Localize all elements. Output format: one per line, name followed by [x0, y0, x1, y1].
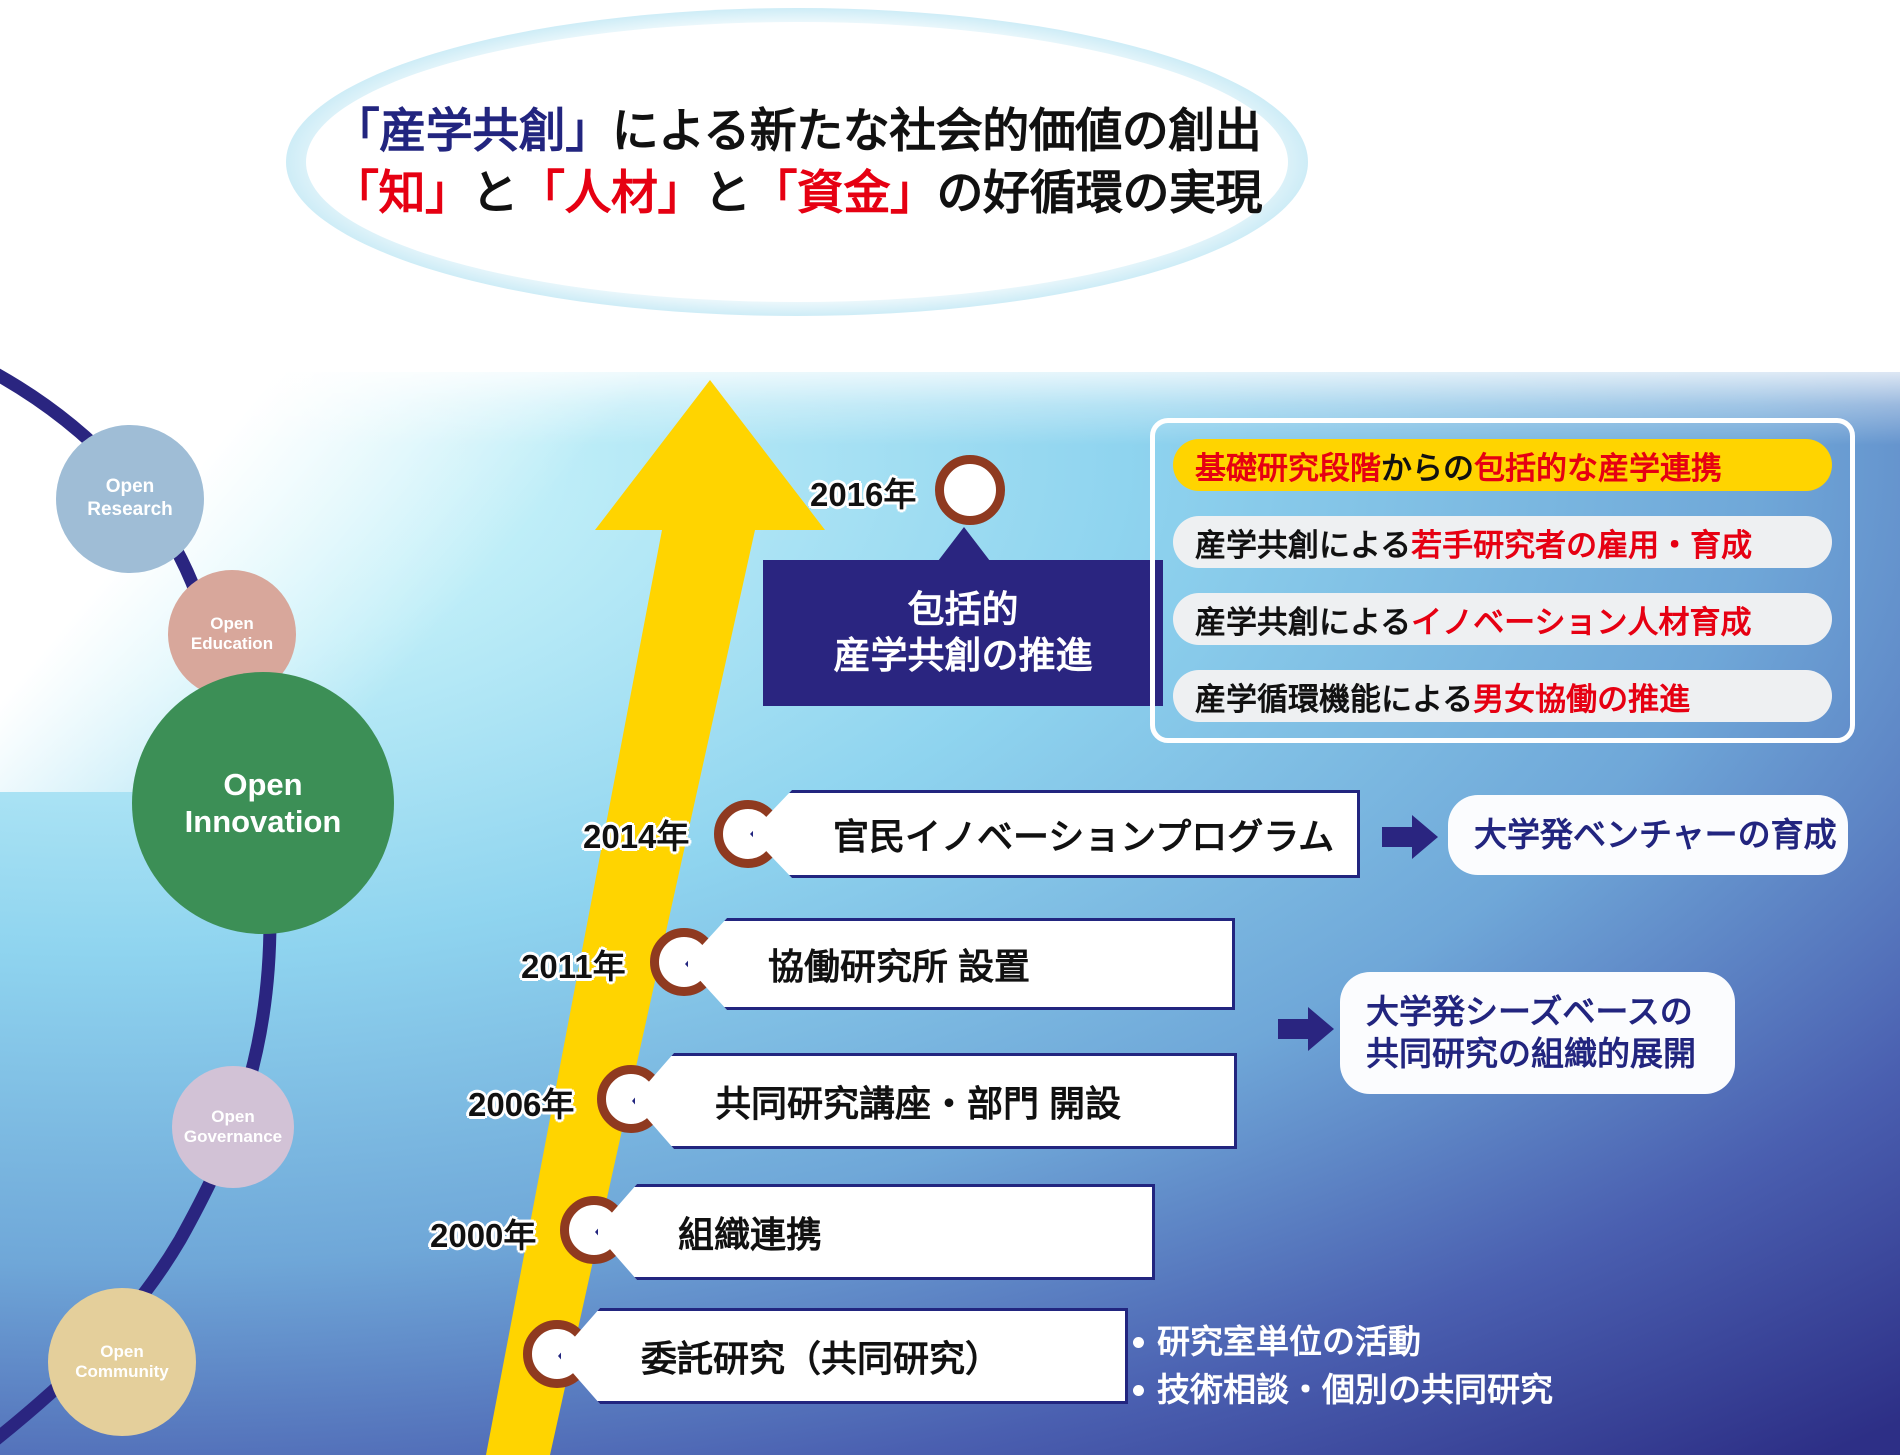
seeds-callout[interactable]: 大学発シーズベースの 共同研究の組織的展開 — [1340, 972, 1735, 1094]
circle-open-education-label: OpenEducation — [191, 614, 273, 655]
initiatives-panel: 基礎研究段階からの包括的な産学連携 産学共創による若手研究者の雇用・育成 産学共… — [1150, 418, 1855, 743]
navy-box-line-1: 包括的 — [908, 587, 1019, 633]
circle-open-innovation-label: OpenInnovation — [185, 766, 342, 840]
initiative-row-4: 産学循環機能による男女協働の推進 — [1173, 670, 1832, 722]
circle-open-community[interactable]: OpenCommunity — [48, 1288, 196, 1436]
year-label-2014: 2014年 — [583, 810, 689, 858]
initiative-row-3: 産学共創によるイノベーション人材育成 — [1173, 593, 1832, 645]
venture-callout-line-1: 大学発ベンチャーの育成 — [1474, 814, 1837, 856]
circle-open-community-label: OpenCommunity — [75, 1342, 169, 1383]
initiative-row-2: 産学共創による若手研究者の雇用・育成 — [1173, 516, 1832, 568]
circle-open-innovation[interactable]: OpenInnovation — [132, 672, 394, 934]
arrow-right-icon-venture — [1382, 813, 1438, 861]
bullet-text-1: 研究室単位の活動 — [1157, 1318, 1421, 1366]
milestone-box-2011[interactable]: 協働研究所 設置 — [685, 918, 1235, 1010]
bullet-list: 研究室単位の活動 技術相談・個別の共同研究 — [1133, 1318, 1553, 1414]
bullet-dot-icon — [1133, 1337, 1144, 1348]
initiative-row-1: 基礎研究段階からの包括的な産学連携 — [1173, 439, 1832, 491]
bullet-text-2: 技術相談・個別の共同研究 — [1157, 1366, 1553, 1414]
year-label-2016: 2016年 — [810, 468, 916, 516]
navy-box-line-2: 産学共創の推進 — [834, 633, 1093, 679]
year-label-2006: 2006年 — [468, 1078, 574, 1126]
circle-open-governance[interactable]: OpenGovernance — [172, 1066, 294, 1188]
timeline-ring-2016[interactable] — [935, 455, 1005, 525]
milestone-box-2014[interactable]: 官民イノベーションプログラム — [750, 790, 1360, 878]
seeds-callout-line-1: 大学発シーズベースの — [1366, 991, 1693, 1033]
bullet-dot-icon — [1133, 1385, 1144, 1396]
milestone-box-2000[interactable]: 組織連携 — [595, 1184, 1155, 1280]
milestone-box-2006[interactable]: 共同研究講座・部門 開設 — [632, 1053, 1237, 1149]
milestone-box-base[interactable]: 委託研究（共同研究） — [558, 1308, 1128, 1404]
infographic-root: OpenResearch OpenEducation OpenInnovatio… — [0, 0, 1900, 1455]
headline-line-2: 「知」と「人材」と「資金」の好循環の実現 — [332, 162, 1262, 224]
year-label-2000: 2000年 — [430, 1209, 536, 1257]
circle-open-research-label: OpenResearch — [87, 476, 173, 522]
list-item: 技術相談・個別の共同研究 — [1133, 1366, 1553, 1414]
venture-callout[interactable]: 大学発ベンチャーの育成 — [1448, 795, 1848, 875]
list-item: 研究室単位の活動 — [1133, 1318, 1553, 1366]
headline-bubble: 「産学共創」による新たな社会的価値の創出 「知」と「人材」と「資金」の好循環の実… — [306, 22, 1288, 302]
arrow-right-icon-seeds — [1278, 1005, 1334, 1053]
circle-open-research[interactable]: OpenResearch — [56, 425, 204, 573]
seeds-callout-line-2: 共同研究の組織的展開 — [1366, 1033, 1696, 1075]
circle-open-governance-label: OpenGovernance — [184, 1107, 282, 1148]
comprehensive-promotion-box: 包括的 産学共創の推進 — [763, 560, 1163, 706]
headline-line-1: 「産学共創」による新たな社会的価値の創出 — [333, 100, 1262, 162]
year-label-2011: 2011年 — [521, 940, 626, 988]
navy-box-pointer-icon — [938, 527, 990, 561]
